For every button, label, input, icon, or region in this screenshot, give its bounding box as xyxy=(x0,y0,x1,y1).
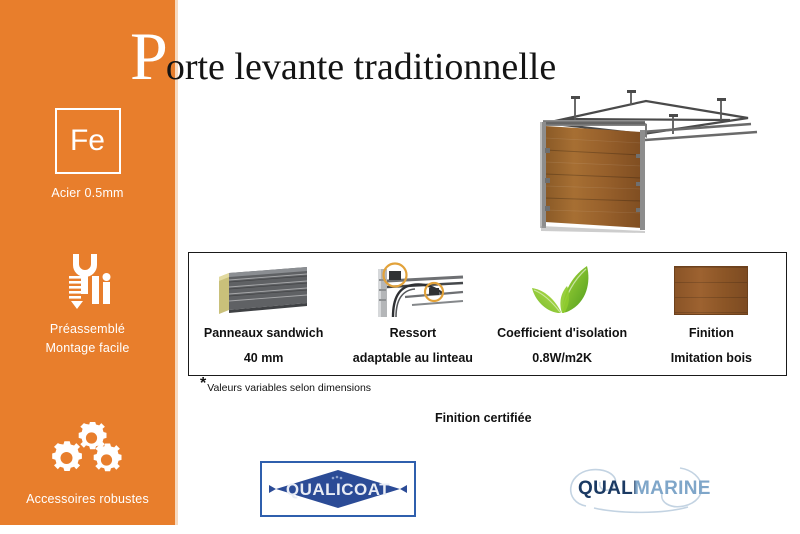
page-title-initial: P xyxy=(130,22,168,90)
product-sheet-page: Fe Acier 0.5mm xyxy=(0,0,800,534)
sidebar-item-acier: Fe Acier 0.5mm xyxy=(0,108,175,203)
feature-finition: Finition Imitation bois xyxy=(637,253,786,375)
feature-subtitle: Imitation bois xyxy=(671,351,752,365)
feature-subtitle: 40 mm xyxy=(244,351,284,365)
feature-ressort: Ressort adaptable au linteau xyxy=(338,253,487,375)
fe-square-icon: Fe xyxy=(55,108,121,174)
page-title: P orte levante traditionnelle xyxy=(130,22,556,84)
footnote-asterisk: * xyxy=(200,379,206,389)
garage-door-photo xyxy=(505,88,790,233)
feature-subtitle: adaptable au linteau xyxy=(353,351,473,365)
sidebar-item-accessoires: Accessoires robustes xyxy=(0,420,175,509)
feature-title: Finition xyxy=(689,326,734,340)
feature-coefficient-isolation: Coefficient d'isolation 0.8W/m2K xyxy=(488,253,637,375)
sidebar-item-acier-label: Acier 0.5mm xyxy=(0,184,175,203)
wood-texture xyxy=(674,266,748,315)
sidebar-item-accessoires-label: Accessoires robustes xyxy=(0,490,175,509)
feature-panneaux-sandwich: Panneaux sandwich 40 mm xyxy=(189,253,338,375)
qualicoat-wordmark: QUALICOAT xyxy=(286,480,390,499)
certification-heading: Finition certifiée xyxy=(435,411,532,425)
green-leaves-icon xyxy=(529,259,595,321)
wrench-tools-icon xyxy=(0,250,175,312)
sidebar-item-preassemble: Préassemblé Montage facile xyxy=(0,250,175,358)
feature-title: Ressort xyxy=(390,326,437,340)
qualimarine-wordmark-bold: QUALI xyxy=(578,478,639,499)
footnote: * Valeurs variables selon dimensions xyxy=(200,379,371,394)
wood-finish-swatch xyxy=(674,259,748,321)
sandwich-panel-image xyxy=(215,259,313,321)
features-box: Panneaux sandwich 40 mm xyxy=(188,252,787,376)
feature-subtitle: 0.8W/m2K xyxy=(532,351,592,365)
qualimarine-wordmark-light: MARINE xyxy=(634,478,711,499)
sidebar-item-preassemble-label-2: Montage facile xyxy=(0,339,175,358)
feature-title: Panneaux sandwich xyxy=(204,326,323,340)
gears-icon xyxy=(0,420,175,482)
sidebar-item-preassemble-label-1: Préassemblé xyxy=(0,320,175,339)
qualicoat-logo: QUALICOAT xyxy=(260,461,416,517)
feature-title: Coefficient d'isolation xyxy=(497,326,627,340)
footnote-text: Valeurs variables selon dimensions xyxy=(207,382,371,394)
spring-mechanism-image xyxy=(360,259,465,321)
qualimarine-logo: QUALI MARINE xyxy=(560,462,720,514)
page-title-text: orte levante traditionnelle xyxy=(166,48,556,86)
fe-symbol-text: Fe xyxy=(70,126,105,156)
